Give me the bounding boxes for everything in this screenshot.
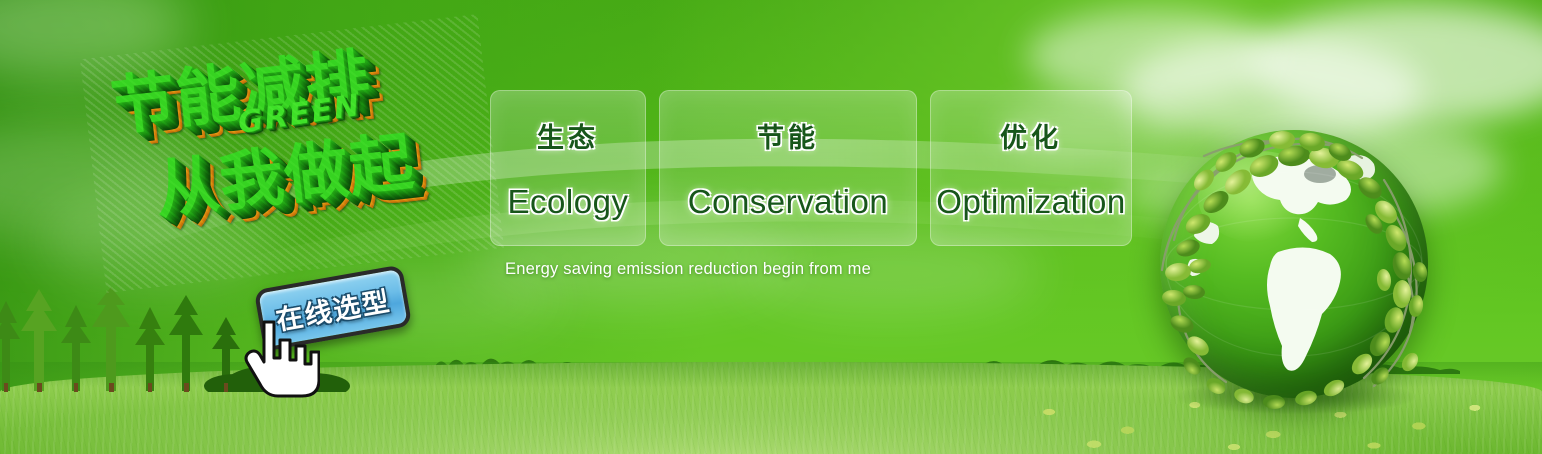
feature-card-conservation-en: Conservation — [688, 183, 888, 221]
feature-card-optimization-en: Optimization — [936, 183, 1125, 221]
feature-card-optimization-cn: 优化 — [1000, 116, 1062, 155]
feature-card-conservation[interactable]: 节能 Conservation — [659, 90, 917, 246]
headline-3d-text: 节能减排 GREEN 从我做起 — [80, 14, 504, 293]
globe-vines-and-leaves-icon — [1148, 120, 1440, 420]
green-energy-banner: 节能减排 GREEN 从我做起 在线选型 生态 Ecology 节能 Conse… — [0, 0, 1542, 454]
feature-cards: 生态 Ecology 节能 Conservation 优化 Optimizati… — [490, 90, 1132, 246]
tagline: Energy saving emission reduction begin f… — [505, 260, 871, 279]
feature-card-optimization[interactable]: 优化 Optimization — [930, 90, 1132, 246]
feature-card-conservation-cn: 节能 — [757, 116, 819, 155]
feature-card-ecology[interactable]: 生态 Ecology — [490, 90, 646, 246]
feature-card-ecology-en: Ecology — [508, 183, 629, 221]
feature-card-ecology-cn: 生态 — [537, 116, 599, 155]
leafy-earth-globe-icon — [1148, 120, 1440, 420]
online-selection-button-label: 在线选型 — [272, 279, 393, 338]
